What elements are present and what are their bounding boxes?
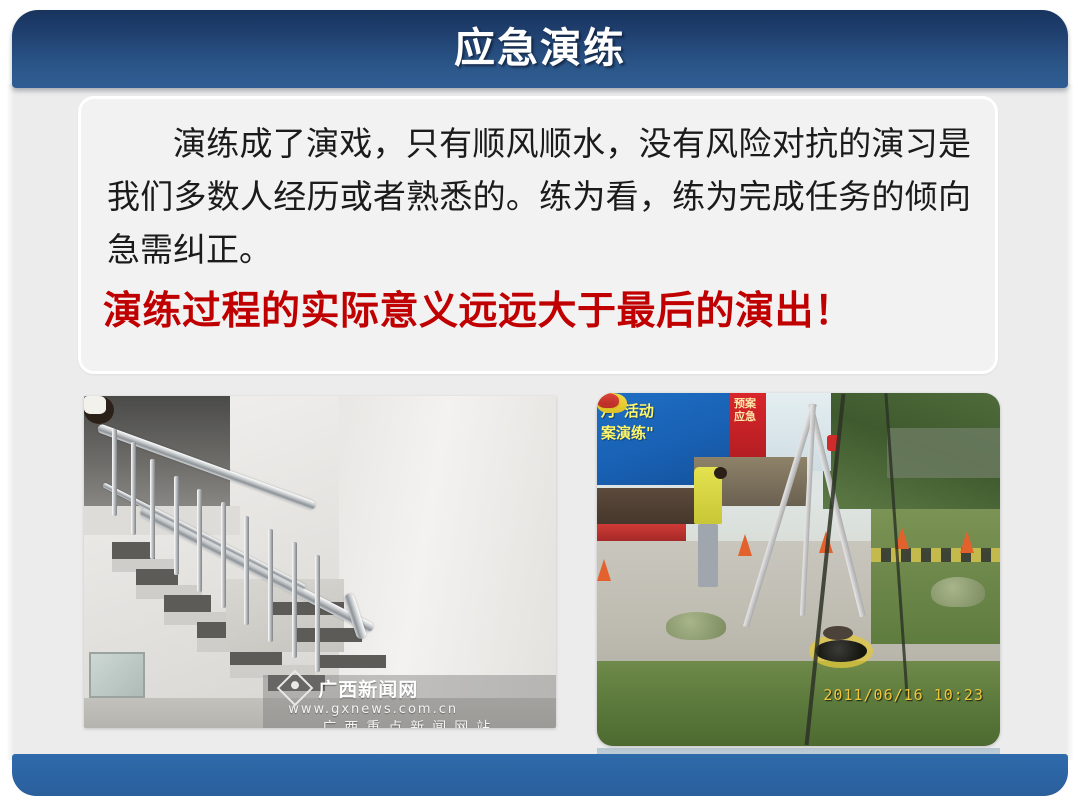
footer-bar [12, 754, 1068, 796]
photo-watermark: 广西新闻网 www.gxnews.com.cn 广西重点新闻网站 [263, 675, 556, 728]
stair-step [315, 655, 386, 668]
baluster [197, 489, 202, 592]
red-banner-text: 预案 应急 [734, 397, 766, 423]
manhole-cover [823, 626, 853, 640]
photo-stairwell-evacuation: 广西新闻网 www.gxnews.com.cn 广西重点新闻网站 [84, 396, 556, 728]
shrub [931, 577, 985, 607]
content-card: 演练成了演戏，只有顺风顺水，没有风险对抗的演习是我们多数人经历或者熟悉的。练为看… [78, 96, 998, 374]
traffic-cone [738, 534, 752, 556]
photographer-legs [698, 524, 718, 588]
grass-foreground [597, 661, 1000, 746]
watermark-subtitle: 广西重点新闻网站 [282, 717, 556, 728]
red-headline: 演练过程的实际意义远远大于最后的演出！ [103, 284, 983, 340]
slide-root: 应急演练 演练成了演戏，只有顺风顺水，没有风险对抗的演习是我们多数人经历或者熟悉… [0, 0, 1080, 810]
baluster [221, 502, 226, 608]
photo-timestamp: 2011/06/16 10:23 [823, 686, 984, 704]
baluster [112, 429, 117, 515]
hillside [887, 428, 1000, 477]
shrub [666, 612, 726, 640]
stairwell-window [89, 652, 146, 698]
traffic-cone [960, 531, 974, 553]
baluster [131, 442, 136, 535]
stair-step [112, 542, 154, 559]
grass-verge-right [871, 509, 1000, 643]
manhole-opening [815, 640, 867, 662]
photo-confined-space-rescue: 月"活动 案演练" 预案 应急 [597, 393, 1000, 746]
backdrop-banner-line2: 案演练" [601, 422, 730, 444]
photographer-head [714, 467, 727, 479]
header-banner: 应急演练 [12, 10, 1068, 88]
baluster [150, 459, 155, 559]
baluster [174, 476, 179, 576]
footer-margin [0, 796, 1080, 810]
body-paragraph: 演练成了演戏，只有顺风顺水，没有风险对抗的演习是我们多数人经历或者熟悉的。练为看… [107, 117, 971, 276]
baluster [315, 555, 320, 671]
baluster [268, 529, 273, 642]
painted-kerb [871, 548, 1000, 562]
red-barrier [597, 524, 686, 542]
baluster [244, 516, 249, 626]
stair-step [136, 569, 178, 586]
stair-step [292, 628, 363, 641]
officials-table [597, 488, 698, 523]
traffic-cone [597, 559, 611, 581]
mouth-cover-cloth [84, 396, 106, 414]
watermark-url: www.gxnews.com.cn [288, 702, 458, 717]
watermark-site-name: 广西新闻网 [318, 675, 418, 702]
baluster [292, 542, 297, 658]
stair-step [164, 595, 211, 612]
red-helmet [597, 393, 615, 405]
page-title: 应急演练 [12, 23, 1068, 73]
